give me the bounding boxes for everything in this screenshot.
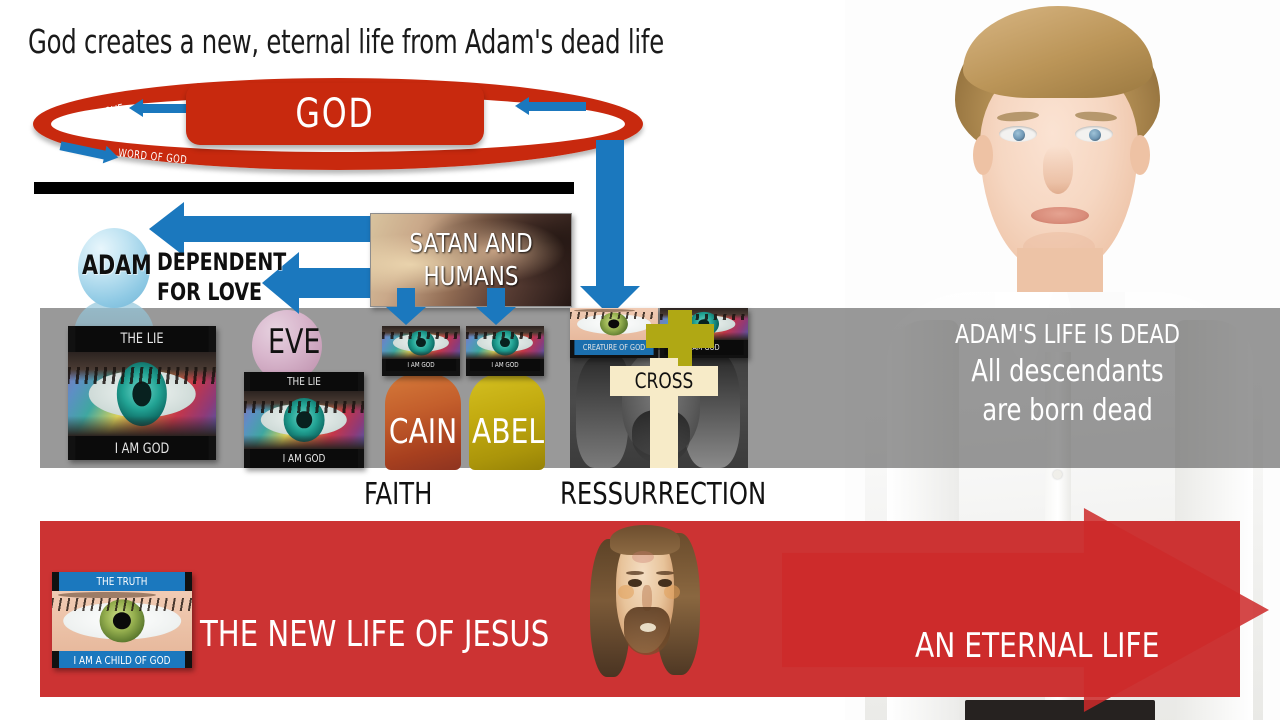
lie-eye-icon	[244, 391, 364, 449]
new-life-of-jesus-label: THE NEW LIFE OF JESUS	[200, 614, 549, 655]
adam-eye-top-caption: THE LIE	[75, 326, 208, 352]
truth-eye-panel: THE TRUTH I AM A CHILD OF GOD	[52, 572, 192, 668]
abel-eye-bottom-caption: I AM GOD	[470, 359, 540, 371]
portrait-iris-right	[1089, 129, 1101, 141]
faith-label: FAITH	[364, 477, 432, 512]
adam-label: ADAM	[82, 250, 152, 281]
creature-of-god-caption: CREATURE OF GOD	[574, 340, 653, 355]
adam-eye-bottom-caption: I AM GOD	[75, 436, 208, 460]
truth-eye-icon	[570, 308, 658, 340]
portrait-belt	[965, 700, 1155, 720]
satan-and-humans-label: SATAN ANDHUMANS	[379, 228, 563, 294]
an-eternal-life-label: AN ETERNAL LIFE	[915, 626, 1159, 666]
truth-eye-icon	[52, 591, 192, 651]
adams-life-is-dead-text: ADAM'S LIFE IS DEAD All descendants are …	[855, 318, 1280, 430]
eve-eye-top-caption: THE LIE	[250, 372, 358, 391]
portrait-iris-left	[1013, 129, 1025, 141]
portrait-shirt-button	[1053, 470, 1062, 479]
black-divider-bar	[34, 182, 574, 194]
cain-eye-panel: I AM GOD	[382, 326, 460, 376]
adams-life-is-dead-line3: are born dead	[876, 391, 1259, 430]
lie-eye-icon	[68, 352, 216, 436]
adams-life-is-dead-line2: All descendants	[876, 352, 1259, 391]
lie-eye-icon	[382, 326, 460, 359]
adam-eye-panel: THE LIE I AM GOD	[68, 326, 216, 460]
lie-eye-icon	[466, 326, 544, 359]
portrait-nose	[1043, 146, 1073, 194]
slide-canvas: God creates a new, eternal life from Ada…	[0, 0, 1280, 720]
adam-dependent-label: DEPENDENTFOR LOVE	[157, 247, 286, 307]
abel-label: ABEL	[472, 412, 542, 452]
portrait-ear-right	[1130, 135, 1150, 175]
satan-to-abel-arrow-icon	[487, 288, 505, 308]
abel-eye-panel: I AM GOD	[466, 326, 544, 376]
resurrection-label: RESSURRECTION	[560, 477, 766, 512]
eve-eye-panel: THE LIE I AM GOD	[244, 372, 364, 468]
eve-label: EVE	[268, 322, 320, 362]
truth-bottom-caption: I AM A CHILD OF GOD	[59, 651, 185, 668]
god-to-jesus-down-arrow-icon	[596, 140, 624, 288]
cain-label: CAIN	[388, 412, 458, 452]
god-box: GOD	[186, 83, 484, 145]
olive-cross-horizontal-icon	[646, 324, 714, 348]
satan-to-cain-arrow-icon	[397, 288, 415, 308]
truth-top-caption: THE TRUTH	[59, 572, 185, 591]
slide-title: God creates a new, eternal life from Ada…	[28, 22, 664, 62]
creature-of-god-eye-panel: CREATURE OF GOD	[570, 308, 658, 358]
cross-label: CROSS	[615, 366, 712, 396]
fruit-arrow-icon	[528, 102, 586, 111]
cain-figure: CAIN	[385, 374, 461, 470]
portrait-ear-left	[973, 135, 993, 175]
cain-eye-bottom-caption: I AM GOD	[386, 359, 456, 371]
god-box-label: GOD	[295, 91, 374, 137]
adams-life-is-dead-line1: ADAM'S LIFE IS DEAD	[876, 318, 1259, 352]
portrait-mouth	[1031, 207, 1089, 224]
eve-eye-bottom-caption: I AM GOD	[250, 449, 358, 468]
abel-figure: ABEL	[469, 374, 545, 470]
jesus-watercolor-portrait	[588, 521, 700, 681]
